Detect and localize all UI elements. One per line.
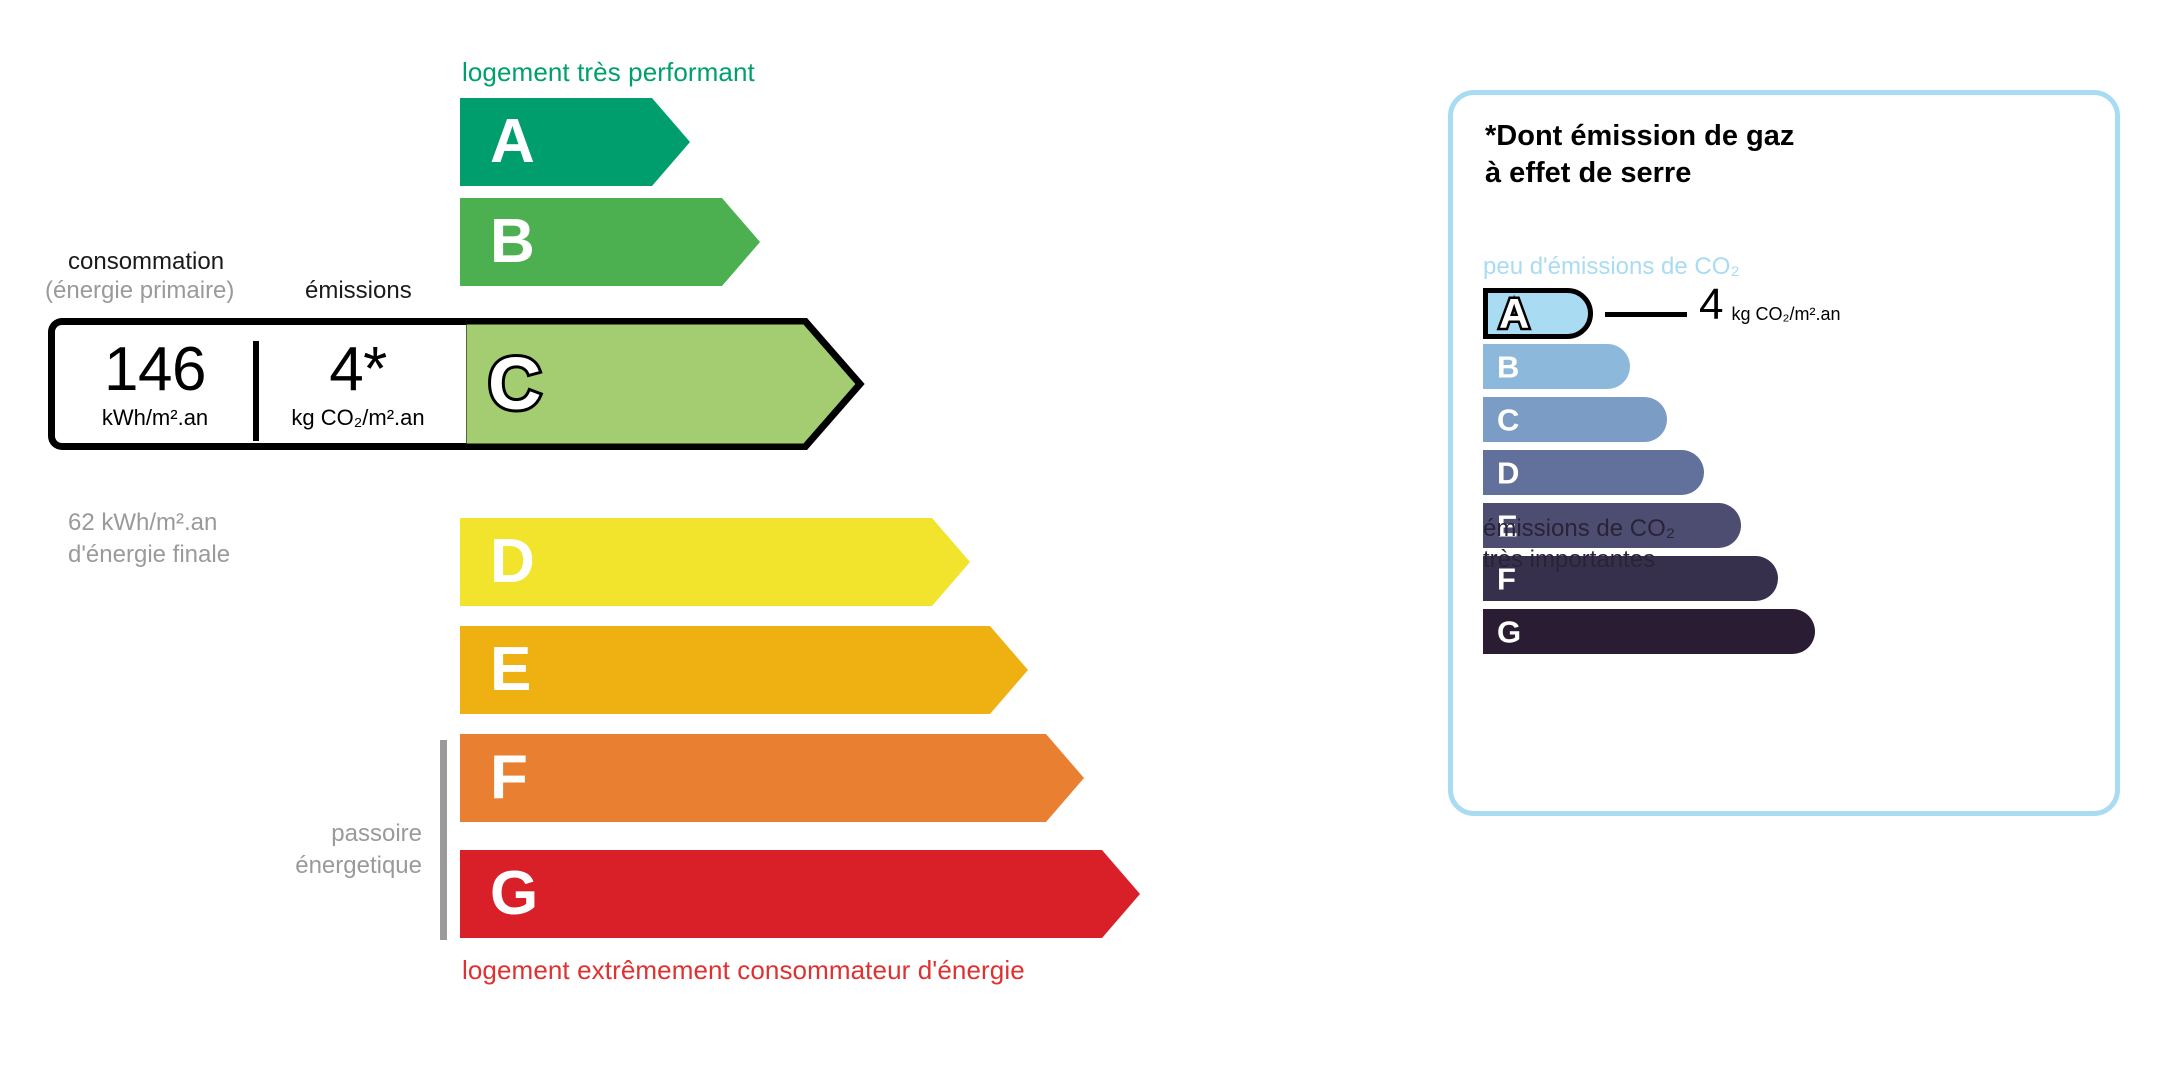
energy-bottom-caption: logement extrêmement consommateur d'éner… (462, 955, 1025, 986)
energy-arrow-f (460, 734, 1084, 822)
emission-unit: kg CO₂/m².an (291, 407, 424, 429)
energy-performance-panel: logement très performant A B (0, 0, 1400, 1079)
co2-value-number: 4 (1699, 283, 1723, 327)
co2-high-caption: émissions de CO₂ très importantes (1483, 513, 1675, 575)
co2-value-callout: 4 kg CO₂/m².an (1699, 283, 1841, 327)
energy-arrow-c (460, 318, 865, 450)
value-box-divider (253, 341, 259, 441)
co2-grade-row-g[interactable]: G (1483, 609, 2083, 654)
value-box: 146 kWh/m².an 4* kg CO₂/m².an (48, 318, 466, 450)
co2-low-caption: peu d'émissions de CO₂ (1483, 253, 1740, 281)
energy-grade-row-f[interactable]: F (460, 734, 1084, 822)
emission-value-cell: 4* kg CO₂/m².an (263, 325, 453, 443)
energy-grade-row-c[interactable]: C (460, 318, 865, 450)
energy-arrow-e (460, 626, 1028, 714)
co2-bar-c (1483, 397, 1667, 442)
consumption-heading: consommation (68, 248, 224, 276)
energy-grade-row-g[interactable]: G (460, 850, 1140, 938)
energy-arrow-d (460, 518, 970, 606)
energy-grade-row-d[interactable]: D (460, 518, 970, 606)
co2-panel-title: *Dont émission de gaz à effet de serre (1485, 118, 1794, 192)
energy-grade-row-b[interactable]: B (460, 198, 760, 286)
co2-grade-ladder: A B C D E F (1483, 291, 2083, 662)
co2-leader-line (1605, 312, 1687, 317)
co2-grade-row-b[interactable]: B (1483, 344, 2083, 389)
co2-grade-row-c[interactable]: C (1483, 397, 2083, 442)
energy-arrow-a (460, 98, 690, 186)
consumption-value-cell: 146 kWh/m².an (61, 325, 249, 443)
co2-emissions-panel: *Dont émission de gaz à effet de serre p… (1448, 90, 2120, 816)
consumption-unit: kWh/m².an (102, 407, 208, 429)
co2-bar-b (1483, 344, 1630, 389)
co2-value-unit: kg CO₂/m².an (1731, 305, 1840, 323)
energy-grade-row-e[interactable]: E (460, 626, 1028, 714)
emissions-heading: émissions (305, 277, 412, 305)
co2-bar-g (1483, 609, 1815, 654)
co2-grade-row-d[interactable]: D (1483, 450, 2083, 495)
consumption-subheading: (énergie primaire) (45, 277, 234, 305)
energy-grade-row-a[interactable]: A (460, 98, 690, 186)
energy-arrow-g (460, 850, 1140, 938)
co2-bar-a (1483, 288, 1593, 339)
passoire-marker-bar (440, 740, 447, 940)
co2-bar-d (1483, 450, 1704, 495)
final-energy-note: 62 kWh/m².an d'énergie finale (68, 507, 230, 570)
dpe-diagram: logement très performant A B (0, 0, 2169, 1079)
consumption-value: 146 (104, 339, 206, 401)
energy-arrow-b (460, 198, 760, 286)
emission-value: 4* (329, 339, 387, 401)
passoire-label: passoire énergetique (190, 818, 422, 881)
